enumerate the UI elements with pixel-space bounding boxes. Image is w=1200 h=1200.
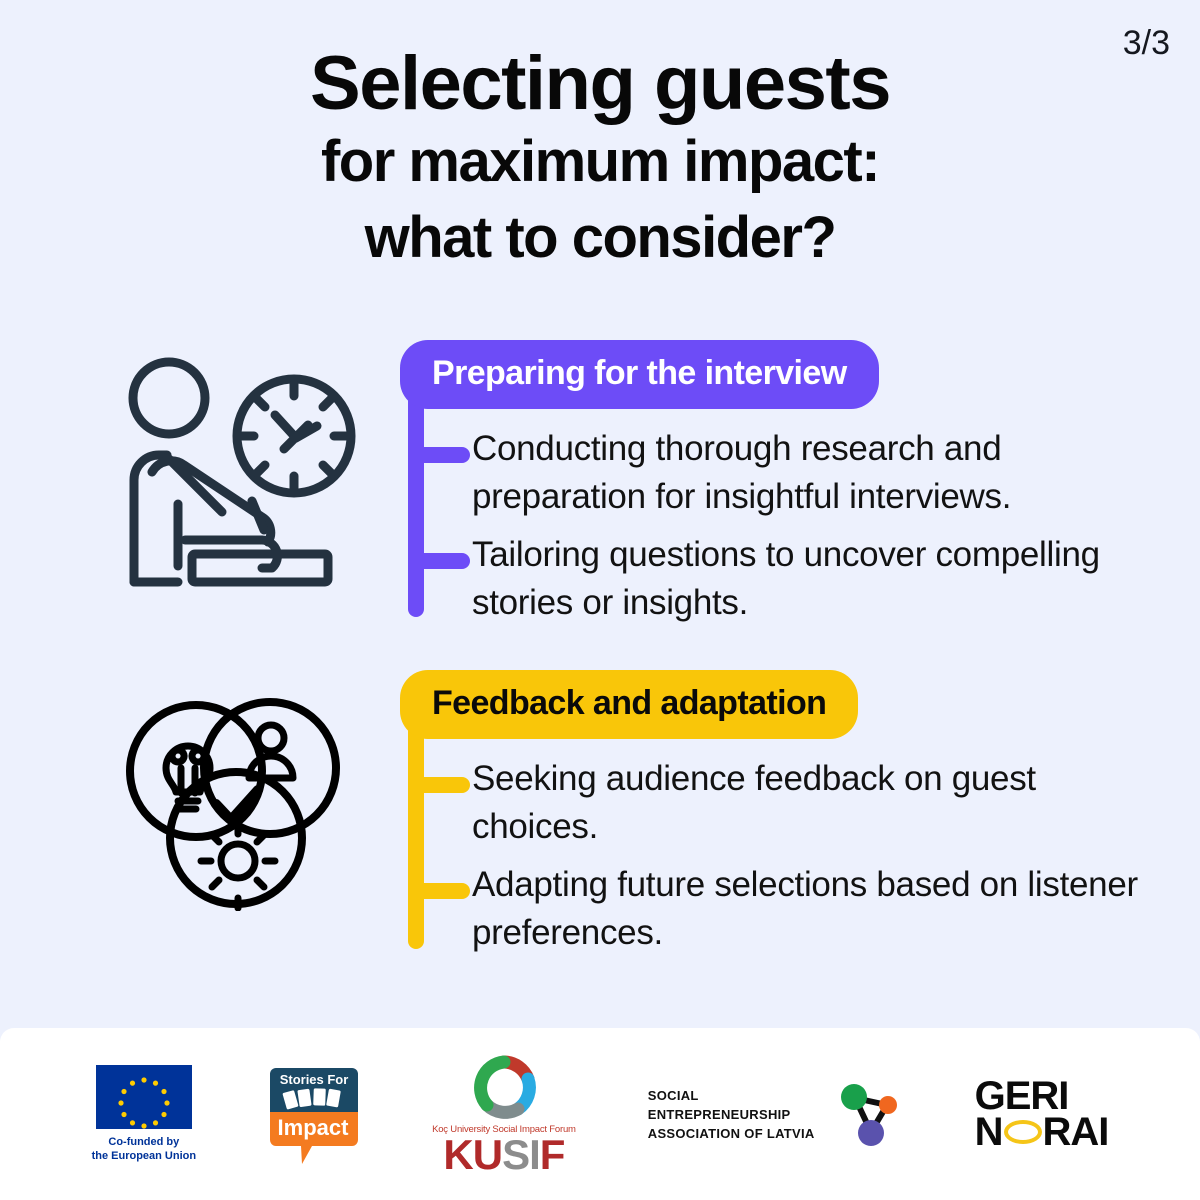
section-body-feedback: Feedback and adaptation Seeking audience…: [400, 670, 1160, 967]
bracket-interview: Conducting thorough research and prepara…: [400, 397, 1160, 631]
kusif-word-ku: KU: [443, 1131, 502, 1178]
section-feedback-and-adaptation: Feedback and adaptation Seeking audience…: [0, 670, 1200, 970]
bracket-arm: [408, 447, 470, 463]
list-item: Conducting thorough research and prepara…: [400, 425, 1160, 525]
footer-logo-band: Co-funded by the European Union Stories …: [0, 1028, 1200, 1200]
logo-kusif: Koç University Social Impact Forum KUSIF: [432, 1053, 576, 1175]
svg-text:Impact: Impact: [278, 1115, 350, 1140]
title-line-2: for maximum impact:: [0, 124, 1200, 200]
list-item-text: Seeking audience feedback on guest choic…: [472, 755, 1160, 851]
geri-norai-line-1: GERI: [975, 1078, 1069, 1114]
logo-geri-norai: GERI NRAI: [975, 1078, 1109, 1150]
seal-logo-text: SOCIAL ENTREPRENEURSHIP ASSOCIATION OF L…: [648, 1086, 815, 1143]
list-item: Tailoring questions to uncover compellin…: [400, 531, 1160, 631]
eu-flag-icon: [96, 1065, 192, 1129]
list-item-text: Conducting thorough research and prepara…: [472, 425, 1160, 521]
kusif-ring-icon: [466, 1053, 542, 1123]
venn-diagram-lightbulb-person-gear-icon: [118, 696, 378, 936]
svg-text:Stories For: Stories For: [280, 1072, 349, 1087]
list-item: Seeking audience feedback on guest choic…: [400, 755, 1160, 855]
section-body-interview: Preparing for the interview Conducting t…: [400, 340, 1160, 637]
person-at-desk-with-clock-icon: [112, 354, 372, 594]
bracket-arm: [408, 883, 470, 899]
bracket-arm: [408, 777, 470, 793]
list-item-text: Tailoring questions to uncover compellin…: [472, 531, 1160, 627]
stories-for-impact-speech-bubble-icon: Stories For Impact: [268, 1062, 360, 1166]
geri-norai-rai: RAI: [1043, 1114, 1109, 1150]
bracket-arm: [408, 553, 470, 569]
section-header-preparing-for-the-interview: Preparing for the interview: [400, 340, 879, 409]
kusif-word-si: SI: [502, 1131, 540, 1178]
seal-network-nodes-icon: [829, 1077, 903, 1151]
list-item-text: Adapting future selections based on list…: [472, 861, 1160, 957]
logo-social-entrepreneurship-association-of-latvia: SOCIAL ENTREPRENEURSHIP ASSOCIATION OF L…: [648, 1077, 903, 1151]
logo-european-union: Co-funded by the European Union: [92, 1065, 197, 1163]
geri-norai-n: N: [975, 1114, 1003, 1150]
halo-ellipse-icon: [1004, 1120, 1042, 1144]
title-line-1: Selecting guests: [0, 44, 1200, 124]
eu-logo-caption: Co-funded by the European Union: [92, 1135, 197, 1163]
geri-norai-line-2: NRAI: [975, 1114, 1109, 1150]
list-item: Adapting future selections based on list…: [400, 861, 1160, 961]
kusif-wordmark: KUSIF: [443, 1135, 564, 1175]
kusif-word-f: F: [540, 1131, 565, 1178]
logo-stories-for-impact: Stories For Impact: [268, 1062, 360, 1166]
section-preparing-for-the-interview: Preparing for the interview Conducting t…: [0, 340, 1200, 640]
bracket-feedback: Seeking audience feedback on guest choic…: [400, 727, 1160, 961]
page-title: Selecting guests for maximum impact: wha…: [0, 44, 1200, 276]
section-header-feedback-and-adaptation: Feedback and adaptation: [400, 670, 858, 739]
title-line-3: what to consider?: [0, 200, 1200, 276]
